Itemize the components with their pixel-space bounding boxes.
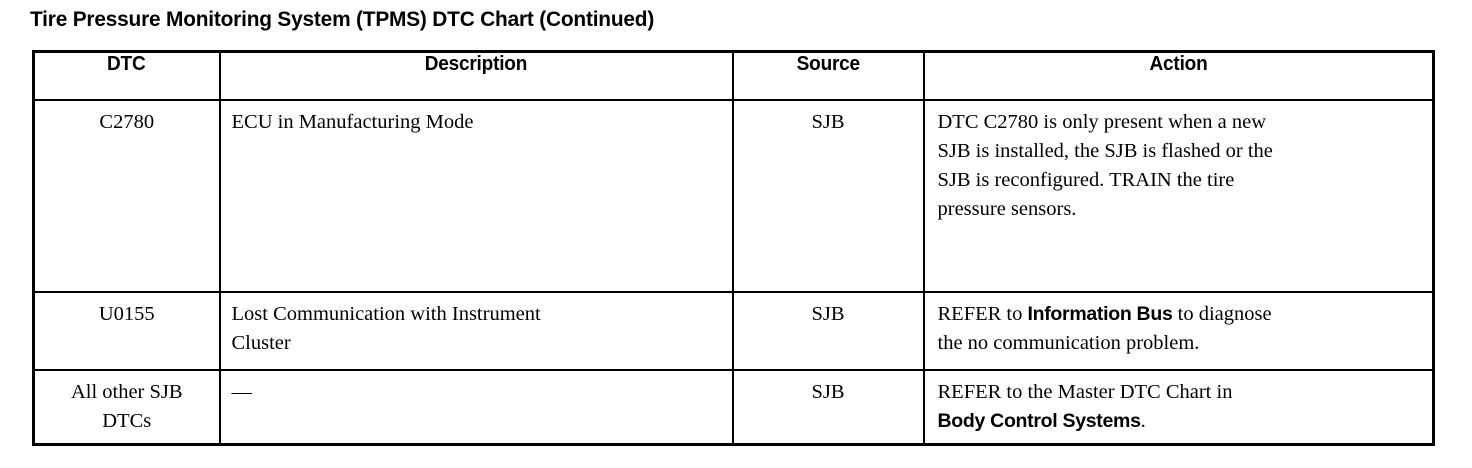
cell-dtc: C2780	[34, 100, 220, 292]
cell-description: Lost Communication with Instrument Clust…	[220, 292, 733, 370]
dtc-code: All other SJB DTCs	[35, 371, 219, 436]
page-title: Tire Pressure Monitoring System (TPMS) D…	[30, 6, 654, 32]
dtc-line: All other SJB	[39, 378, 215, 407]
cross-reference-link[interactable]: Information Bus	[1028, 303, 1173, 325]
dtc-code: C2780	[35, 101, 219, 137]
column-header-source: Source	[733, 52, 924, 101]
action-line: pressure sensors.	[938, 195, 1421, 224]
header-row: DTC Description Source Action	[34, 52, 1434, 101]
cell-action: DTC C2780 is only present when a new SJB…	[924, 100, 1434, 292]
cell-source: SJB	[733, 370, 924, 445]
cell-source: SJB	[733, 292, 924, 370]
action-text: REFER to the Master DTC Chart in Body Co…	[925, 371, 1433, 436]
action-line: SJB is installed, the SJB is flashed or …	[938, 137, 1421, 166]
column-header-source-label: Source	[796, 53, 859, 76]
cell-action: REFER to the Master DTC Chart in Body Co…	[924, 370, 1434, 445]
table-header: DTC Description Source Action	[34, 52, 1434, 101]
action-line: Body Control Systems.	[938, 407, 1421, 436]
cell-description: ECU in Manufacturing Mode	[220, 100, 733, 292]
cross-reference-link[interactable]: Body Control Systems	[938, 410, 1141, 432]
source-text: SJB	[734, 101, 923, 137]
cell-action: REFER to Information Bus to diagnose the…	[924, 292, 1434, 370]
action-line: the no communication problem.	[938, 329, 1421, 358]
dtc-chart-table: DTC Description Source Action C2780 ECU …	[32, 50, 1435, 446]
action-text-suffix: .	[1141, 410, 1146, 432]
cell-source: SJB	[733, 100, 924, 292]
description-line: Lost Communication with Instrument	[232, 300, 722, 329]
table-row: C2780 ECU in Manufacturing Mode SJB DTC …	[34, 100, 1434, 292]
cell-description: —	[220, 370, 733, 445]
column-header-description-label: Description	[425, 53, 527, 76]
cell-dtc: U0155	[34, 292, 220, 370]
description-text: ECU in Manufacturing Mode	[221, 101, 732, 137]
action-text: REFER to Information Bus to diagnose the…	[925, 293, 1433, 358]
dtc-line: DTCs	[39, 407, 215, 436]
cell-dtc: All other SJB DTCs	[34, 370, 220, 445]
description-text: —	[221, 371, 732, 407]
description-line: Cluster	[232, 329, 722, 358]
action-line: REFER to the Master DTC Chart in	[938, 378, 1421, 407]
column-header-dtc: DTC	[34, 52, 220, 101]
dtc-code: U0155	[35, 293, 219, 329]
column-header-dtc-label: DTC	[107, 53, 145, 76]
action-text: DTC C2780 is only present when a new SJB…	[925, 101, 1433, 224]
source-text: SJB	[734, 293, 923, 329]
action-text-prefix: REFER to	[938, 303, 1028, 325]
action-line: SJB is reconfigured. TRAIN the tire	[938, 166, 1421, 195]
action-line: REFER to Information Bus to diagnose	[938, 300, 1421, 329]
action-text-suffix: to diagnose	[1173, 303, 1272, 325]
column-header-action-label: Action	[1149, 53, 1207, 76]
source-text: SJB	[734, 371, 923, 407]
description-text: Lost Communication with Instrument Clust…	[221, 293, 732, 358]
action-line: DTC C2780 is only present when a new	[938, 108, 1421, 137]
table-row: All other SJB DTCs — SJB REFER to the Ma…	[34, 370, 1434, 445]
column-header-action: Action	[924, 52, 1434, 101]
table-body: C2780 ECU in Manufacturing Mode SJB DTC …	[34, 100, 1434, 445]
column-header-description: Description	[220, 52, 733, 101]
table-row: U0155 Lost Communication with Instrument…	[34, 292, 1434, 370]
